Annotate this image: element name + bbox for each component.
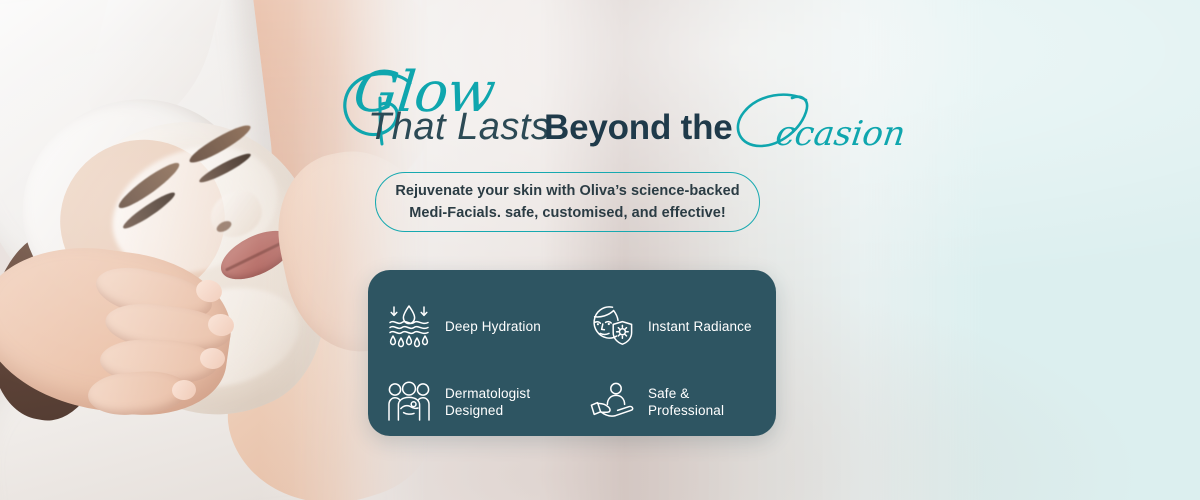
- feature-label-line-1: Dermatologist: [445, 386, 530, 401]
- promo-banner: Glow That Lasts Beyond the ccasion Rejuv…: [0, 0, 1200, 500]
- headline-beyond-the: Beyond the: [544, 108, 733, 148]
- feature-label: Safe & Professional: [648, 385, 724, 419]
- feature-safe-professional: Safe & Professional: [589, 364, 794, 440]
- tagline-line-2: Medi-Facials. safe, customised, and effe…: [409, 205, 726, 221]
- feature-label: Instant Radiance: [648, 318, 752, 335]
- feature-deep-hydration: Deep Hydration: [386, 288, 589, 364]
- feature-label-line-1: Instant Radiance: [648, 319, 752, 334]
- headline-word-occasion: ccasion: [773, 114, 908, 154]
- dermatologist-team-icon: [386, 378, 432, 426]
- hand-care-person-icon: [589, 378, 635, 426]
- tagline-text: Rejuvenate your skin with Oliva’s scienc…: [395, 180, 739, 224]
- headline-that-lasts: That Lasts: [368, 106, 550, 149]
- hydration-droplet-icon: [386, 302, 432, 350]
- feature-instant-radiance: Instant Radiance: [589, 288, 794, 364]
- features-card: Deep Hydration: [368, 270, 776, 436]
- feature-label-line-1: Deep Hydration: [445, 319, 541, 334]
- tagline-pill: Rejuvenate your skin with Oliva’s scienc…: [375, 172, 760, 232]
- tagline-line-1: Rejuvenate your skin with Oliva’s scienc…: [395, 183, 739, 199]
- feature-label-line-1: Safe &: [648, 386, 689, 401]
- feature-label: Deep Hydration: [445, 318, 541, 335]
- feature-label: Dermatologist Designed: [445, 385, 530, 419]
- face-shield-radiance-icon: [589, 302, 635, 350]
- feature-label-line-2: Designed: [445, 403, 503, 418]
- feature-label-line-2: Professional: [648, 403, 724, 418]
- feature-dermatologist-designed: Dermatologist Designed: [386, 364, 589, 440]
- headline: Glow That Lasts Beyond the ccasion: [336, 62, 856, 157]
